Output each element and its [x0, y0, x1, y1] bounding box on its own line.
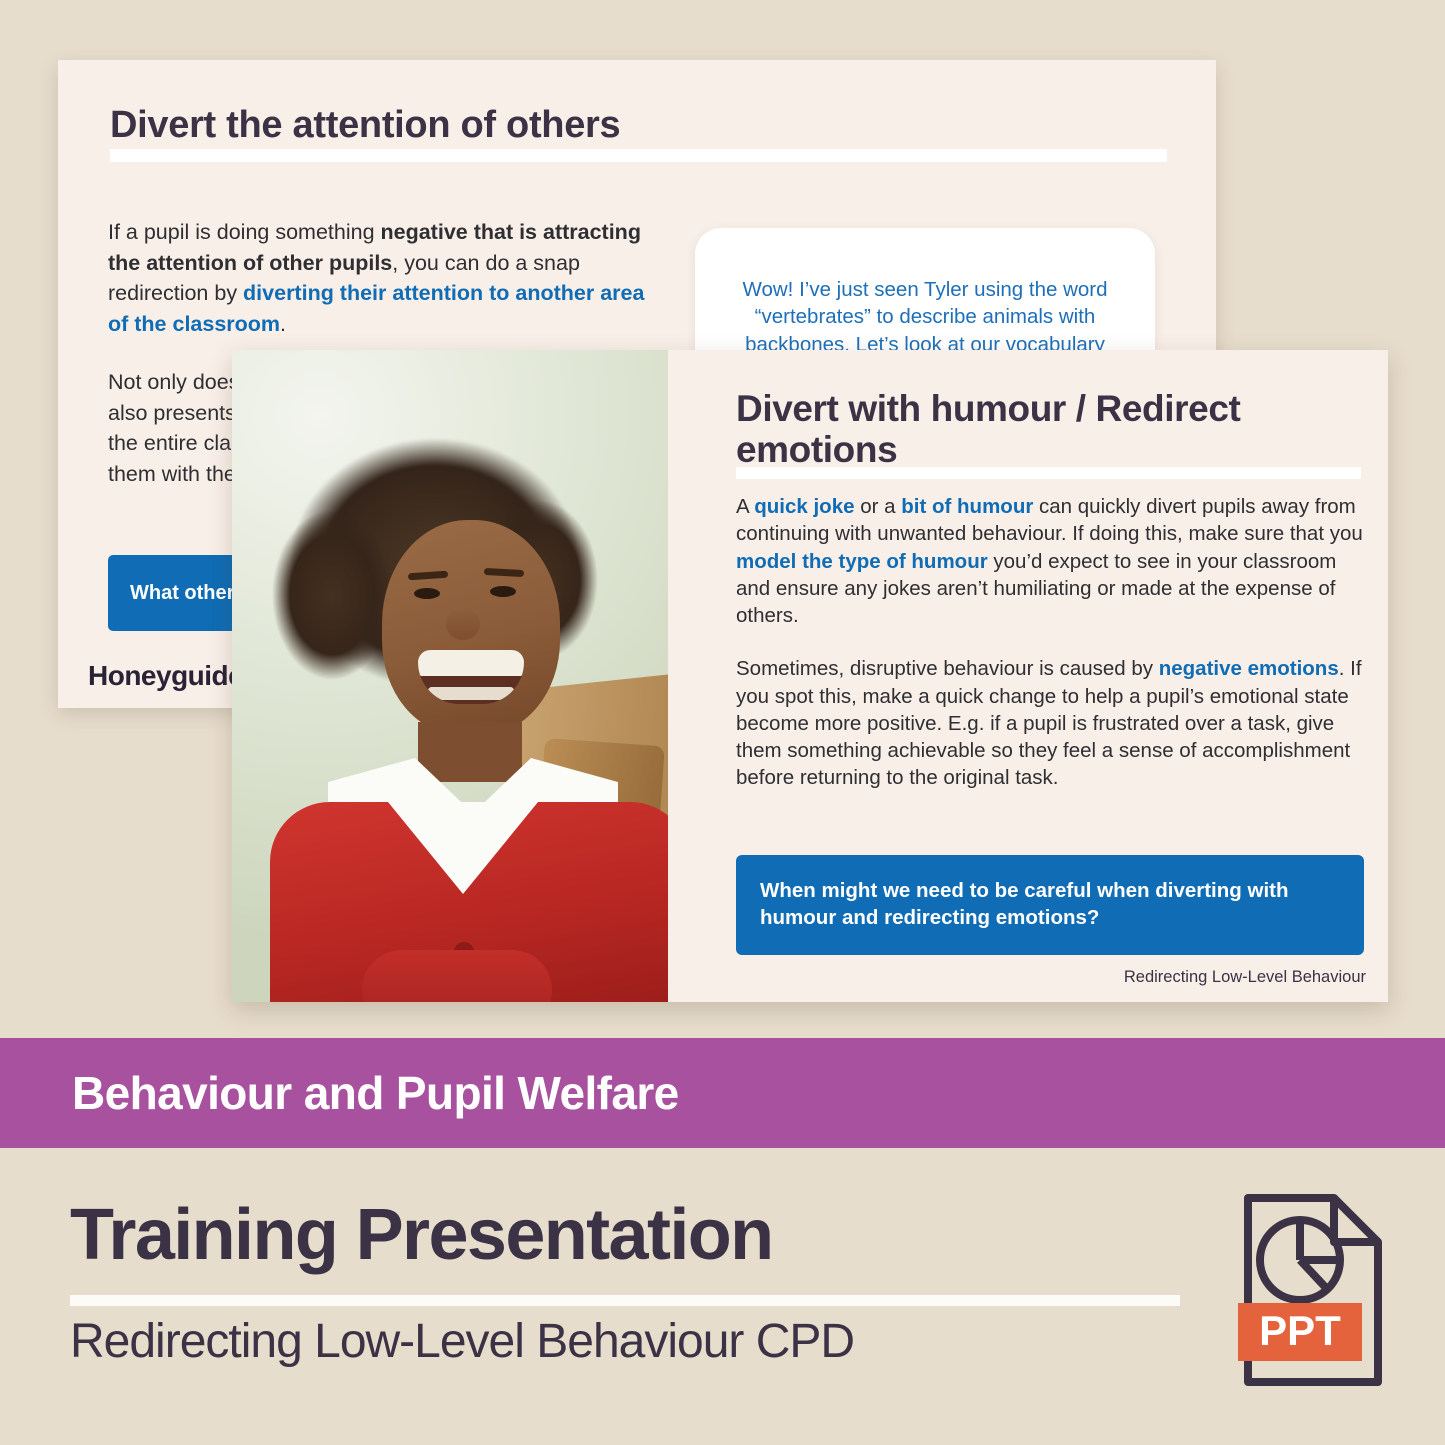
s2p1-part1: A — [736, 495, 754, 518]
resource-subtitle: Redirecting Low-Level Behaviour CPD — [70, 1313, 854, 1371]
s1p1-part3: . — [280, 312, 286, 336]
s2p1-part2: or a — [855, 495, 902, 518]
slide2-title-underline — [736, 467, 1361, 479]
photo-hair-left-puff — [272, 510, 392, 680]
slide1-title-underline — [110, 149, 1167, 162]
slide2-footer-label: Redirecting Low-Level Behaviour — [766, 968, 1366, 987]
slide2-title: Divert with humour / Redirect emotions — [736, 388, 1366, 471]
ppt-badge-label: PPT — [1259, 1307, 1341, 1354]
s2p1-highlight3: model the type of humour — [736, 550, 988, 573]
photo-nose — [446, 608, 480, 640]
slide2-paragraph-1: A quick joke or a bit of humour can quic… — [736, 493, 1366, 629]
slide-card-divert-humour[interactable]: Divert with humour / Redirect emotions A… — [232, 350, 1388, 1002]
resource-summary: Training Presentation Redirecting Low-Le… — [0, 1148, 1445, 1445]
photo-mouth — [418, 650, 524, 704]
category-banner: Behaviour and Pupil Welfare — [0, 1038, 1445, 1148]
resource-title: Training Presentation — [70, 1199, 773, 1271]
slide2-body: A quick joke or a bit of humour can quic… — [736, 493, 1366, 818]
page-root: Divert the attention of others If a pupi… — [0, 0, 1445, 1445]
slide2-paragraph-2: Sometimes, disruptive behaviour is cause… — [736, 655, 1366, 791]
photo-arm — [362, 950, 552, 1002]
slide-preview-area: Divert the attention of others If a pupi… — [0, 0, 1445, 1038]
photo-teeth-upper — [418, 650, 524, 676]
photo-eye-left — [414, 588, 440, 599]
photo-teeth-lower — [428, 687, 514, 700]
s2p1-highlight2: bit of humour — [901, 495, 1033, 518]
slide2-discussion-callout[interactable]: When might we need to be careful when di… — [736, 855, 1364, 955]
slide1-title: Divert the attention of others — [110, 105, 1170, 147]
resource-title-underline — [70, 1295, 1180, 1306]
photo-neck — [418, 722, 522, 782]
s1p1-part1: If a pupil is doing something — [108, 220, 381, 244]
ppt-file-icon: PPT — [1238, 1190, 1388, 1390]
slide1-paragraph-1: If a pupil is doing something negative t… — [108, 217, 653, 339]
honeyguide-logo: Honeyguide — [88, 660, 243, 692]
s2p1-highlight1: quick joke — [754, 495, 854, 518]
s2p2-part1: Sometimes, disruptive behaviour is cause… — [736, 657, 1159, 680]
photo-eye-right — [490, 586, 516, 597]
pupil-photo — [232, 350, 668, 1002]
category-banner-label: Behaviour and Pupil Welfare — [72, 1066, 679, 1120]
s2p2-highlight1: negative emotions — [1159, 657, 1339, 680]
